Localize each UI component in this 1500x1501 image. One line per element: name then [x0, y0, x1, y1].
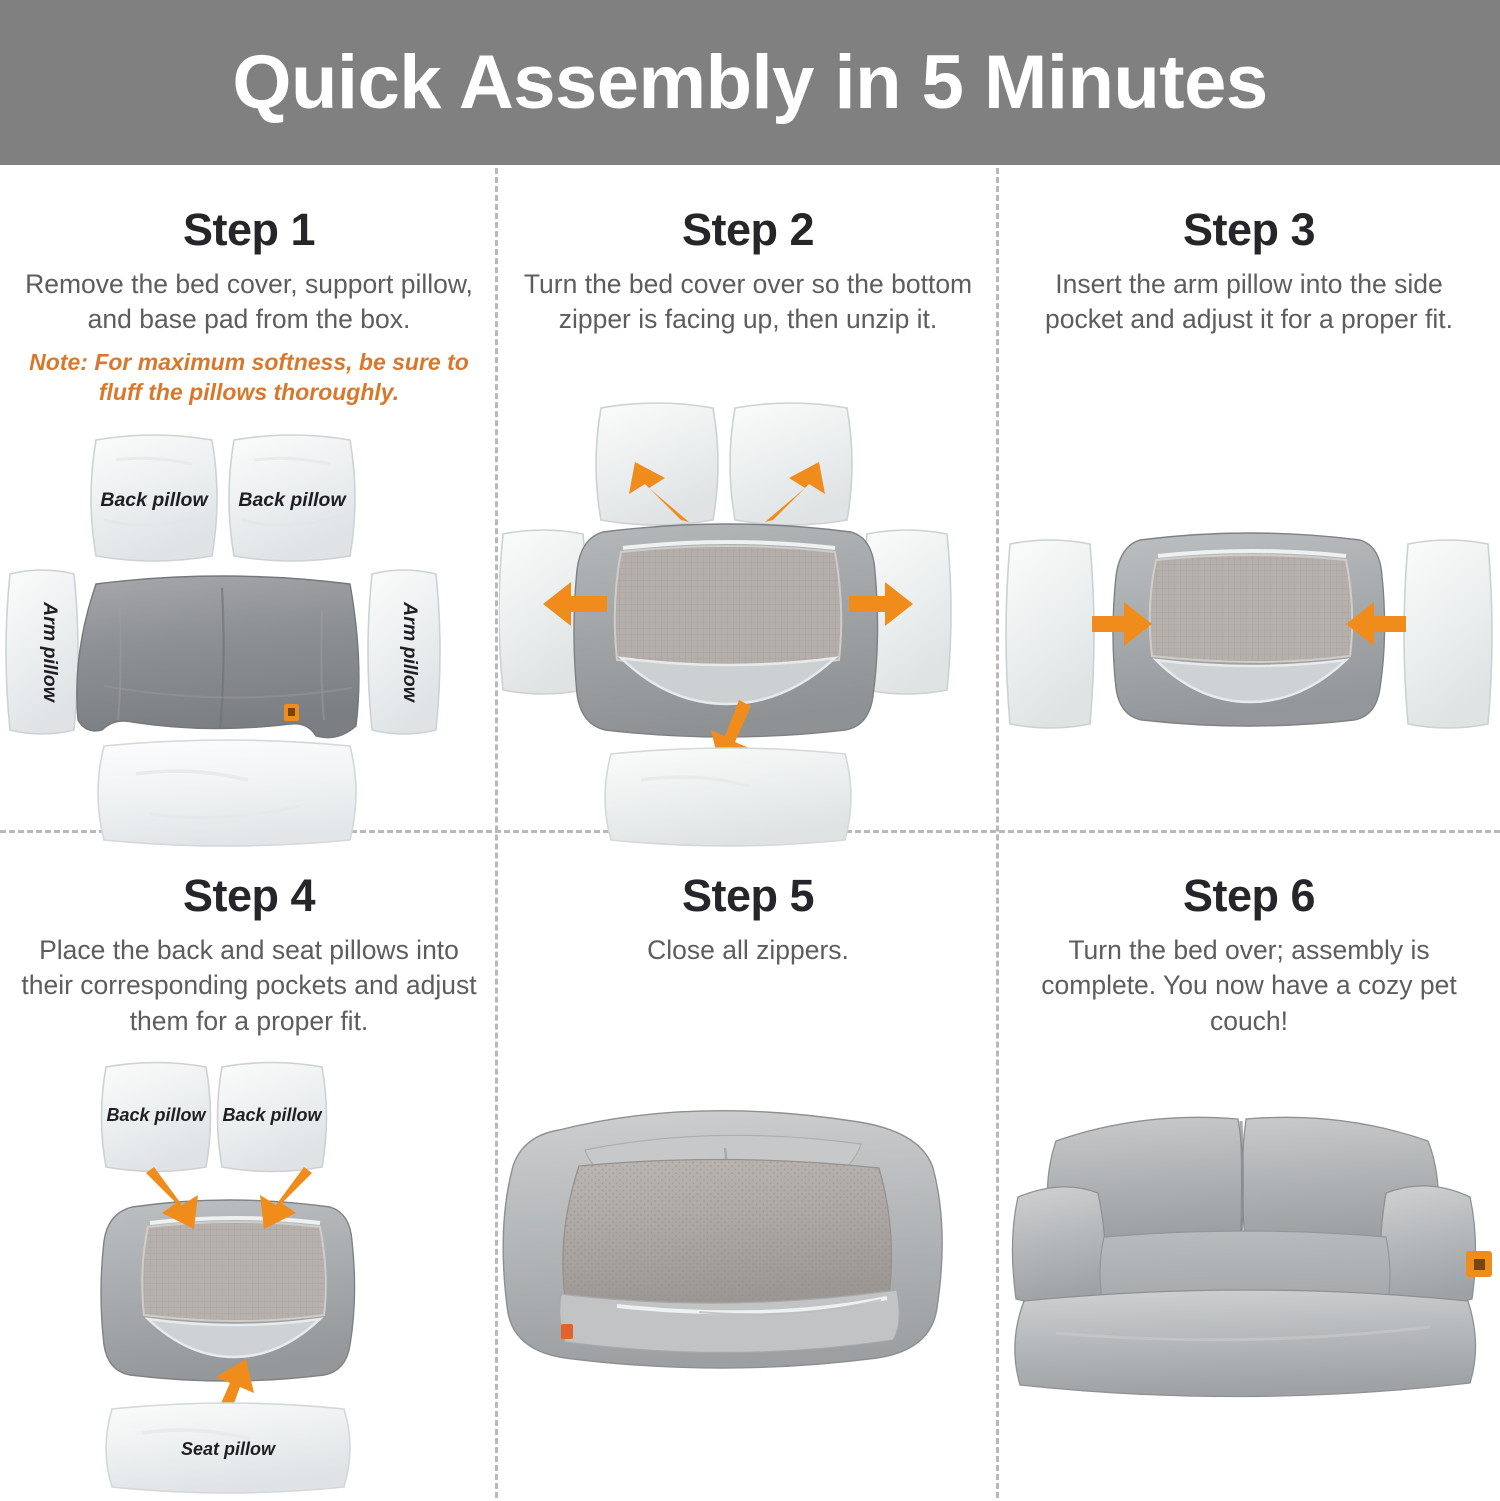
- step-2-cell: Step 2 Turn the bed cover over so the bo…: [499, 168, 997, 860]
- step-2-title: Step 2: [499, 206, 997, 253]
- step-5-illustration: [499, 1066, 997, 1396]
- base-pad: [98, 740, 356, 846]
- step-3-title: Step 3: [1000, 206, 1498, 253]
- back-pillow-right-label: Back pillow: [222, 1105, 322, 1125]
- step-5-cell: Step 5 Close all zippers.: [499, 834, 997, 1396]
- step-2-illustration: [499, 400, 997, 860]
- step-6-description: Turn the bed over; assembly is complete.…: [1000, 933, 1498, 1039]
- bed-cover-folded: [77, 576, 359, 738]
- step-6-cell: Step 6 Turn the bed over; assembly is co…: [1000, 834, 1498, 1435]
- brand-tag-icon: [561, 1324, 573, 1339]
- arm-pillow-right-label: Arm pillow: [399, 601, 421, 704]
- bed-cover-open: [1113, 533, 1385, 726]
- bed-cover-open: [574, 524, 878, 737]
- back-pillow-right-label: Back pillow: [238, 489, 347, 511]
- arm-pillow-left-shape: [1006, 540, 1094, 728]
- step-1-description: Remove the bed cover, support pillow, an…: [0, 267, 498, 337]
- step-3-description: Insert the arm pillow into the side pock…: [1000, 267, 1498, 337]
- back-pillow-left-shape: [596, 403, 718, 525]
- assembly-instructions-page: Quick Assembly in 5 Minutes Step 1 Remov…: [0, 0, 1500, 1498]
- step-5-title: Step 5: [499, 872, 997, 919]
- back-pillow-left-label: Back pillow: [106, 1105, 206, 1125]
- bed-cover-open: [101, 1200, 355, 1381]
- step-2-description: Turn the bed cover over so the bottom zi…: [499, 267, 997, 337]
- arm-pillow-left-label: Arm pillow: [39, 601, 61, 704]
- step-4-title: Step 4: [0, 872, 498, 919]
- header-banner: Quick Assembly in 5 Minutes: [0, 0, 1500, 165]
- arm-rest-left: [1012, 1187, 1105, 1305]
- arm-rest-right: [1380, 1186, 1475, 1305]
- step-1-title: Step 1: [0, 206, 498, 253]
- seat-pillow-label: Seat pillow: [181, 1439, 276, 1459]
- step-1-illustration: Back pillow Back pillow Arm pillow Arm p…: [0, 424, 498, 854]
- step-6-illustration: [1000, 1105, 1498, 1435]
- base-pad: [605, 748, 851, 846]
- step-3-cell: Step 3 Insert the arm pillow into the si…: [1000, 168, 1498, 816]
- back-pillow-left-label: Back pillow: [100, 489, 209, 511]
- step-4-illustration: Back pillow Back pillow: [0, 1061, 498, 1501]
- brand-tag-icon: [1466, 1251, 1492, 1277]
- step-6-title: Step 6: [1000, 872, 1498, 919]
- step-5-description: Close all zippers.: [499, 933, 997, 968]
- arm-pillow-right-shape: [1404, 540, 1492, 728]
- back-pillow-right-shape: [730, 403, 852, 525]
- front-base-bolster: [1015, 1290, 1476, 1397]
- step-4-cell: Step 4 Place the back and seat pillows i…: [0, 834, 498, 1501]
- step-3-illustration: [1000, 516, 1498, 816]
- step-1-note: Note: For maximum softness, be sure to f…: [0, 348, 498, 408]
- page-title: Quick Assembly in 5 Minutes: [232, 45, 1267, 121]
- step-4-description: Place the back and seat pillows into the…: [0, 933, 498, 1039]
- step-1-cell: Step 1 Remove the bed cover, support pil…: [0, 168, 498, 854]
